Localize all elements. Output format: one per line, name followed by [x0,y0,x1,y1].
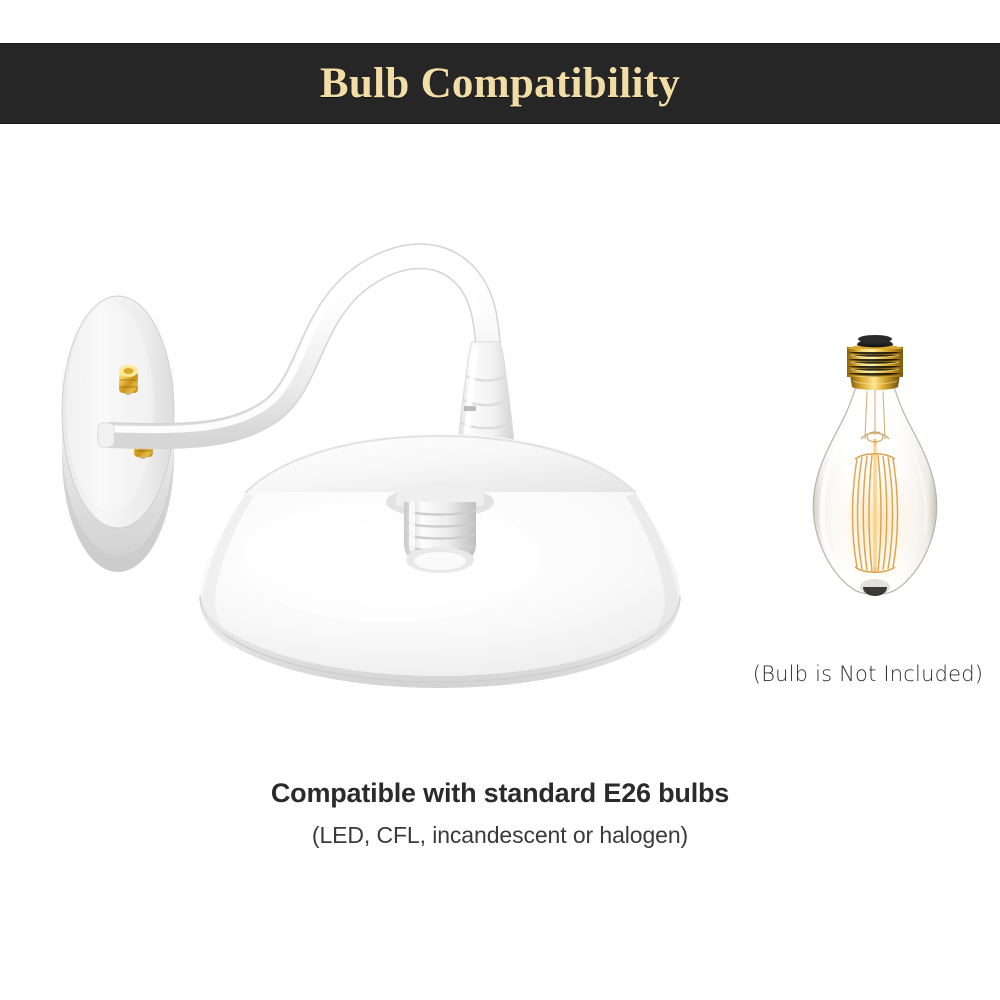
wall-sconce-illustration [40,230,760,740]
compatibility-subline: (LED, CFL, incandescent or halogen) [0,822,1000,849]
header-banner: Bulb Compatibility [0,43,1000,124]
infographic-page: Bulb Compatibility [0,0,1000,1000]
page-title: Bulb Compatibility [320,62,680,105]
compatibility-headline: Compatible with standard E26 bulbs [0,778,1000,809]
bulb-brass-base [847,335,903,390]
bulb-not-included-note: (Bulb is Not Included) [728,662,1000,686]
socket-housing [458,342,514,442]
edison-bulb-illustration [795,335,955,645]
brass-screw-upper [119,365,138,395]
